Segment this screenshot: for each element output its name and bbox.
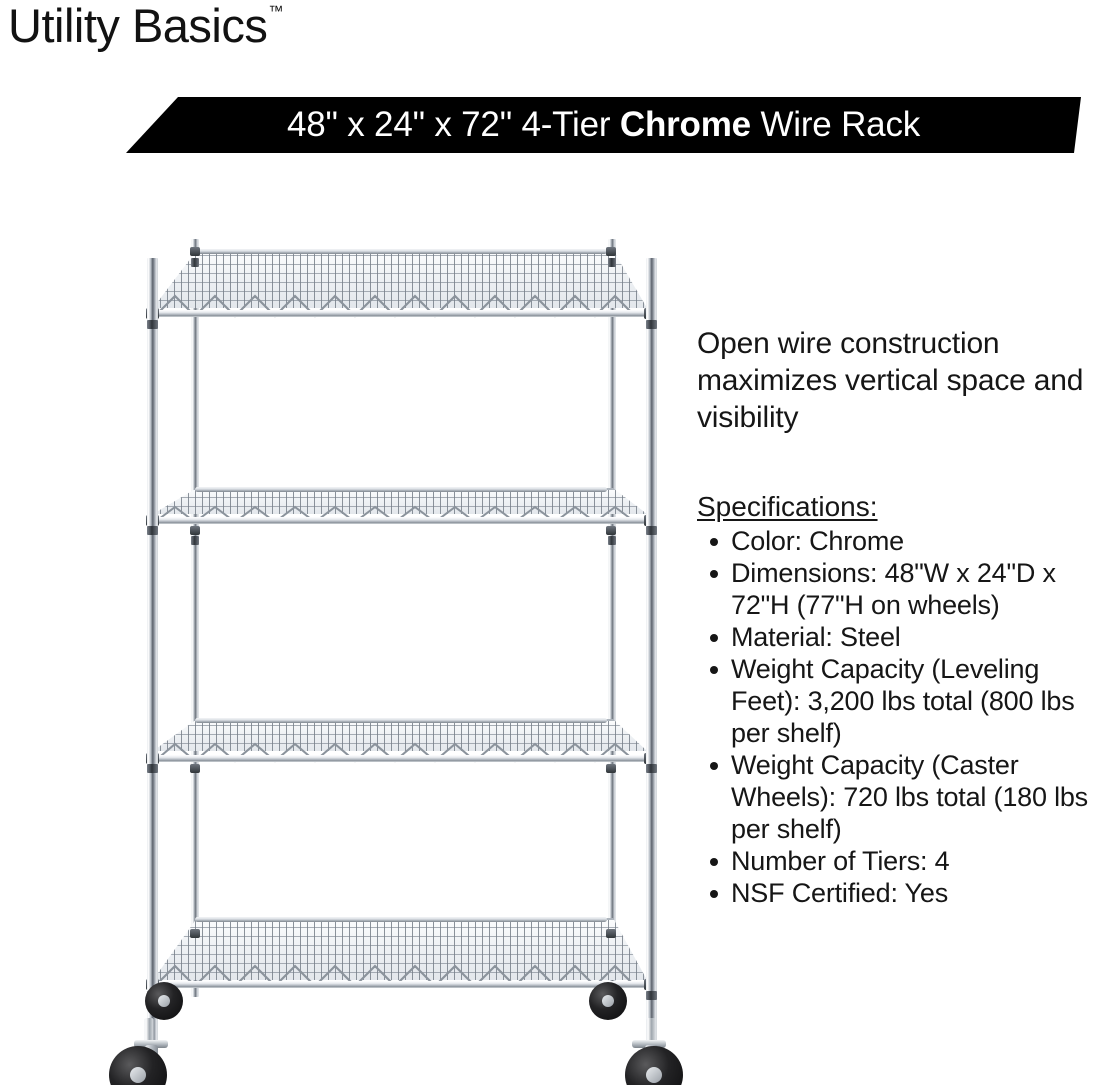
trademark-symbol: ™ bbox=[268, 3, 283, 20]
spec-item-nsf: NSF Certified: Yes bbox=[731, 877, 1101, 909]
rack-shelf-3-bracket-back-right bbox=[606, 764, 616, 773]
rack-shelf-2-back-rail bbox=[195, 487, 607, 492]
rack-collar-fr-1 bbox=[646, 320, 657, 329]
rack-collar-br-2 bbox=[608, 536, 616, 545]
rack-shelf-4-back-rail bbox=[195, 917, 607, 922]
rack-post-front-right bbox=[646, 258, 657, 1048]
rack-collar-fr-2 bbox=[646, 526, 657, 535]
rack-collar-fl-3 bbox=[147, 764, 158, 773]
spec-item-tiers: Number of Tiers: 4 bbox=[731, 845, 1101, 877]
caster-front-left bbox=[107, 1018, 197, 1085]
rack-shelf-3-front-rail bbox=[151, 755, 651, 762]
title-banner: 48" x 24" x 72" 4-Tier Chrome Wire Rack bbox=[126, 97, 1081, 153]
rack-shelf-1-bracket-back-right bbox=[606, 247, 616, 256]
rack-collar-br-1 bbox=[608, 258, 616, 267]
rack-shelf-3-back-rail bbox=[195, 718, 607, 723]
banner-text-bold: Chrome bbox=[620, 105, 751, 144]
rack-shelf-1-front-rail bbox=[151, 310, 651, 317]
rack-collar-fr-3 bbox=[646, 764, 657, 773]
specifications-list: Color: Chrome Dimensions: 48"W x 24"D x … bbox=[697, 525, 1101, 909]
rack-collar-fl-1 bbox=[147, 320, 158, 329]
rack-post-front-left bbox=[147, 258, 158, 1048]
caster-front-right bbox=[605, 1018, 695, 1085]
spec-item-capacity-caster: Weight Capacity (Caster Wheels): 720 lbs… bbox=[731, 749, 1101, 845]
rack-shelf-2-bracket-back-right bbox=[606, 526, 616, 535]
spec-item-material: Material: Steel bbox=[731, 621, 1101, 653]
rack-post-back-left bbox=[191, 239, 199, 997]
product-image bbox=[95, 236, 695, 1085]
rack-shelf-2-front-rail bbox=[151, 517, 651, 524]
rack-shelf-4-bracket-back-left bbox=[190, 929, 200, 938]
product-infographic: Utility Basics™ 48" x 24" x 72" 4-Tier C… bbox=[0, 0, 1108, 1085]
rack-collar-bl-1 bbox=[191, 258, 199, 267]
specifications-title: Specifications: bbox=[697, 491, 878, 523]
rack-shelf-3-bracket-back-left bbox=[190, 764, 200, 773]
spec-item-capacity-feet: Weight Capacity (Leveling Feet): 3,200 l… bbox=[731, 653, 1101, 749]
rack-shelf-1-back-rail bbox=[195, 249, 607, 254]
banner-text-after: Wire Rack bbox=[751, 105, 920, 144]
rack-collar-bl-2 bbox=[191, 536, 199, 545]
rack-collar-fl-2 bbox=[147, 526, 158, 535]
spec-item-dimensions: Dimensions: 48"W x 24"D x 72"H (77"H on … bbox=[731, 557, 1101, 621]
rack-collar-fr-4 bbox=[646, 991, 657, 1000]
rack-shelf-2-bracket-back-left bbox=[190, 526, 200, 535]
brand-logo: Utility Basics™ bbox=[8, 0, 282, 53]
feature-headline: Open wire construction maximizes vertica… bbox=[697, 325, 1101, 436]
rack-shelf-1-bracket-back-left bbox=[190, 247, 200, 256]
brand-name: Utility Basics bbox=[8, 0, 267, 52]
banner-text-before: 48" x 24" x 72" 4-Tier bbox=[287, 105, 620, 144]
copy-column: Open wire construction maximizes vertica… bbox=[697, 325, 1101, 909]
rack-shelf-4-bracket-back-right bbox=[606, 929, 616, 938]
rack-post-back-right bbox=[608, 239, 616, 997]
title-banner-text: 48" x 24" x 72" 4-Tier Chrome Wire Rack bbox=[126, 97, 1081, 153]
spec-item-color: Color: Chrome bbox=[731, 525, 1101, 557]
